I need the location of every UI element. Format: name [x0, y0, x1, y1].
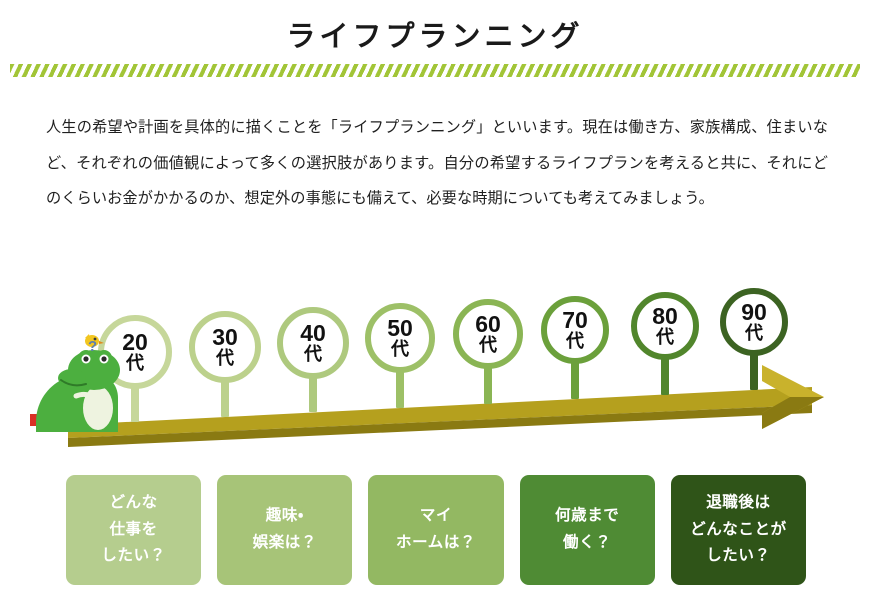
marker-age-suffix: 代 — [216, 349, 234, 368]
page-title: ライフプランニング — [0, 20, 870, 55]
life-timeline: 20代30代40代50代60代70代80代90代 — [0, 275, 870, 450]
marker-age-suffix: 代 — [656, 328, 674, 347]
marker-age-number: 20 — [122, 331, 148, 354]
question-card-3[interactable]: マイ ホームは？ — [368, 475, 503, 585]
marker-age-suffix: 代 — [566, 332, 584, 351]
marker-age-number: 70 — [562, 309, 588, 332]
intro-paragraph: 人生の希望や計画を具体的に描くことを「ライフプランニング」といいます。現在は働き… — [46, 110, 828, 217]
question-card-label: どんな 仕事を したい？ — [101, 490, 165, 570]
frog-mascot-icon — [28, 330, 126, 435]
question-card-4[interactable]: 何歳まで 働く？ — [520, 475, 655, 585]
question-card-label: マイ ホームは？ — [396, 503, 476, 556]
marker-age-number: 30 — [212, 326, 238, 349]
marker-circle[interactable]: 70代 — [541, 296, 609, 364]
mascot-question-mark: ? — [88, 338, 97, 355]
question-card-1[interactable]: どんな 仕事を したい？ — [66, 475, 201, 585]
marker-age-suffix: 代 — [126, 354, 144, 373]
marker-age-number: 40 — [300, 322, 326, 345]
marker-age-number: 50 — [387, 317, 413, 340]
marker-age-number: 60 — [475, 313, 501, 336]
question-card-label: 退職後は どんなことが したい？ — [690, 490, 787, 570]
question-card-label: 趣味・ 娯楽は？ — [253, 503, 317, 556]
marker-circle[interactable]: 50代 — [365, 303, 435, 373]
marker-age-number: 90 — [741, 301, 767, 324]
marker-age-number: 80 — [652, 305, 678, 328]
question-card-label: 何歳まで 働く？ — [555, 503, 619, 556]
marker-circle[interactable]: 40代 — [277, 307, 349, 379]
marker-circle[interactable]: 60代 — [453, 299, 523, 369]
marker-age-suffix: 代 — [479, 336, 497, 355]
question-card-list: どんな 仕事を したい？趣味・ 娯楽は？マイ ホームは？何歳まで 働く？退職後は… — [66, 475, 806, 585]
question-card-2[interactable]: 趣味・ 娯楽は？ — [217, 475, 352, 585]
marker-circle[interactable]: 90代 — [720, 288, 788, 356]
marker-age-suffix: 代 — [304, 345, 322, 364]
marker-age-suffix: 代 — [745, 324, 763, 343]
marker-circle[interactable]: 30代 — [189, 311, 261, 383]
marker-age-suffix: 代 — [391, 340, 409, 359]
marker-circle[interactable]: 80代 — [631, 292, 699, 360]
title-divider-stripes — [10, 64, 860, 77]
question-card-5[interactable]: 退職後は どんなことが したい？ — [671, 475, 806, 585]
